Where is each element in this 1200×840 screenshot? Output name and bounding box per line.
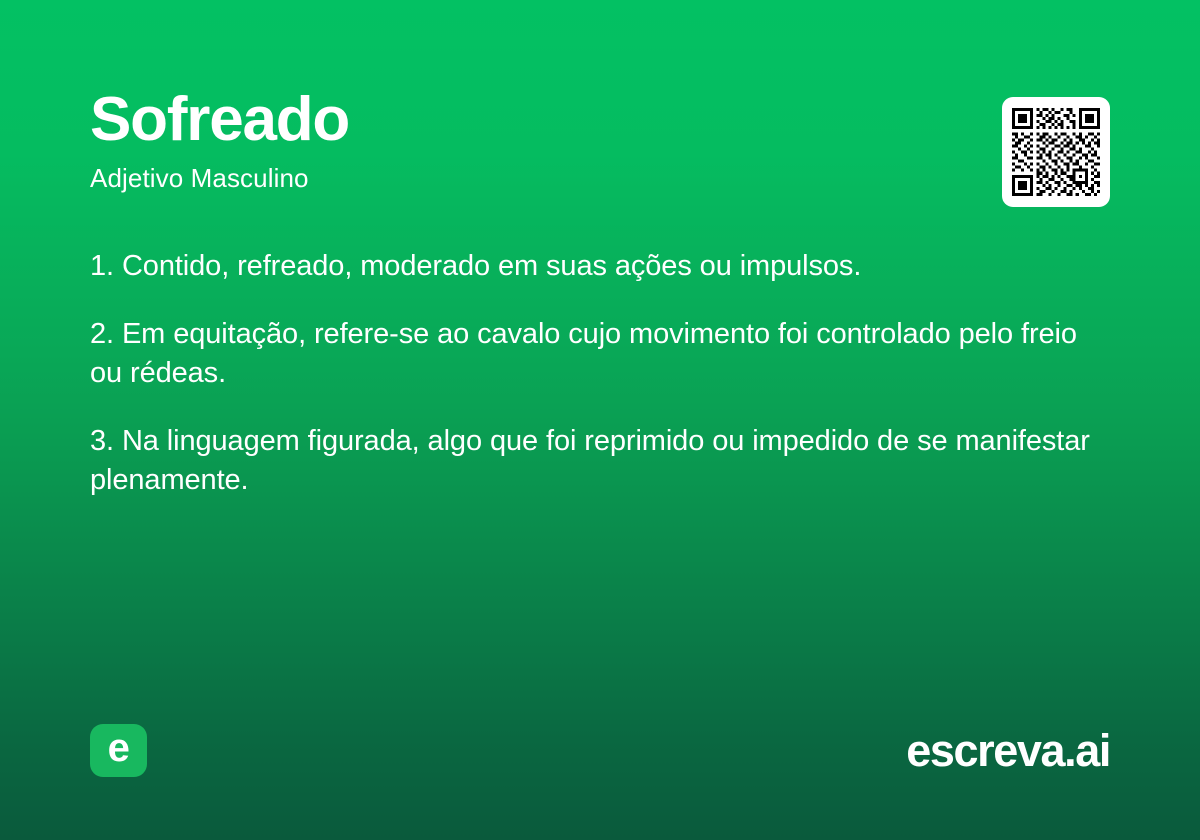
word-block: Sofreado Adjetivo Masculino bbox=[90, 88, 349, 194]
definition-item: 2. Em equitação, refere-se ao cavalo cuj… bbox=[90, 315, 1115, 393]
definition-card: Sofreado Adjetivo Masculino bbox=[0, 0, 1200, 840]
definition-list: 1. Contido, refreado, moderado em suas a… bbox=[90, 247, 1115, 500]
escreva-logo-icon[interactable]: e bbox=[90, 724, 147, 777]
word-class-label: Adjetivo Masculino bbox=[90, 163, 349, 194]
logo-letter: e bbox=[108, 728, 130, 768]
qr-code-icon bbox=[1012, 108, 1100, 196]
definition-item: 1. Contido, refreado, moderado em suas a… bbox=[90, 247, 1115, 286]
brand-wordmark: escreva.ai bbox=[906, 728, 1110, 773]
definition-item: 3. Na linguagem figurada, algo que foi r… bbox=[90, 422, 1115, 500]
card-footer: e escreva.ai bbox=[90, 722, 1110, 778]
qr-code[interactable] bbox=[1002, 97, 1110, 207]
word-title: Sofreado bbox=[90, 88, 349, 151]
card-header: Sofreado Adjetivo Masculino bbox=[90, 88, 1110, 207]
